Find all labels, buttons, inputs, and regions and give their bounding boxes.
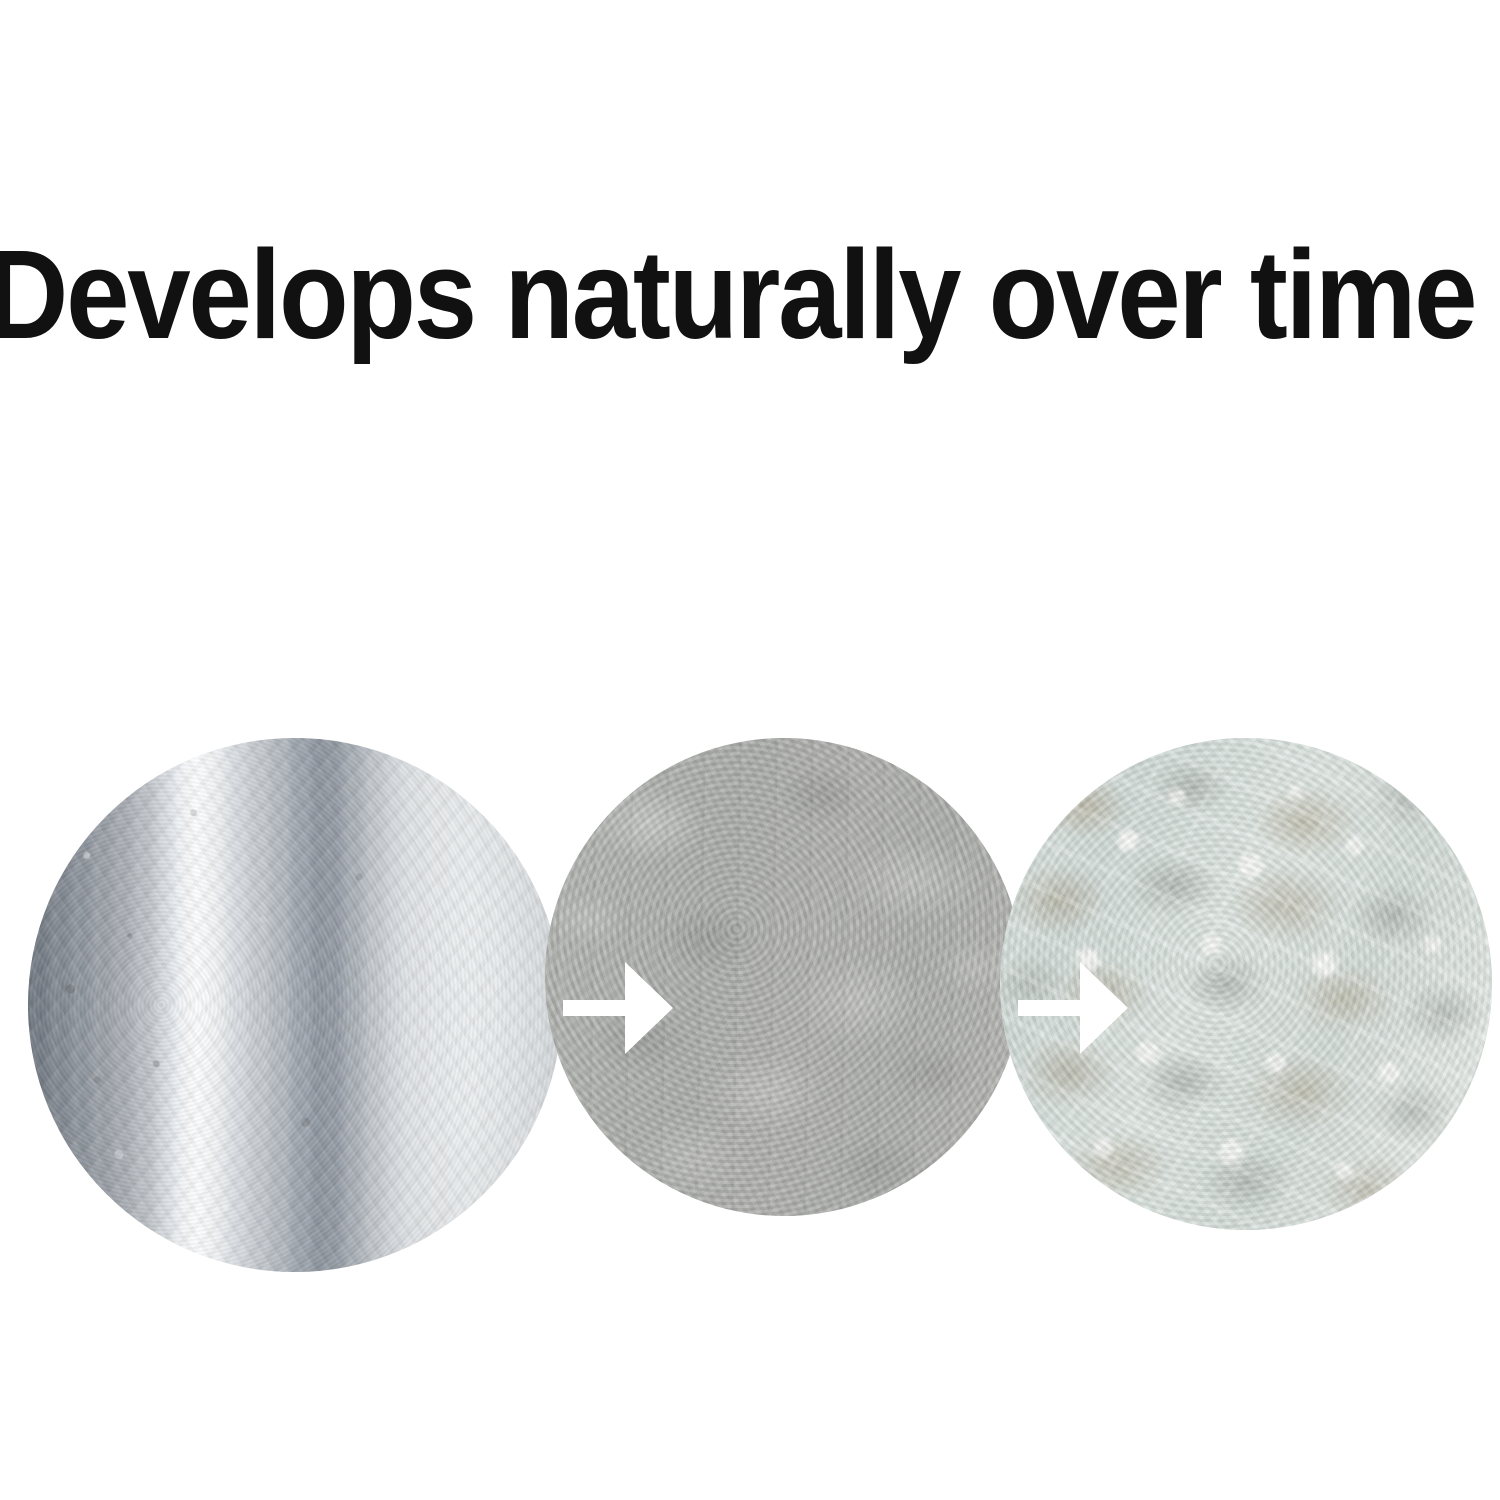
zinc-new-vignette-layer: [28, 738, 562, 1272]
stage-2-to-stage-3-arrow: [1018, 960, 1130, 1056]
weathering-progression: [0, 0, 1500, 1500]
stage-1-to-stage-2-arrow: [563, 960, 675, 1056]
arrow-right-icon: [1018, 960, 1130, 1056]
slide-canvas: Develops naturally over time: [0, 0, 1500, 1500]
stage-1-new-zinc-image: [28, 738, 562, 1272]
arrow-right-icon: [563, 960, 675, 1056]
